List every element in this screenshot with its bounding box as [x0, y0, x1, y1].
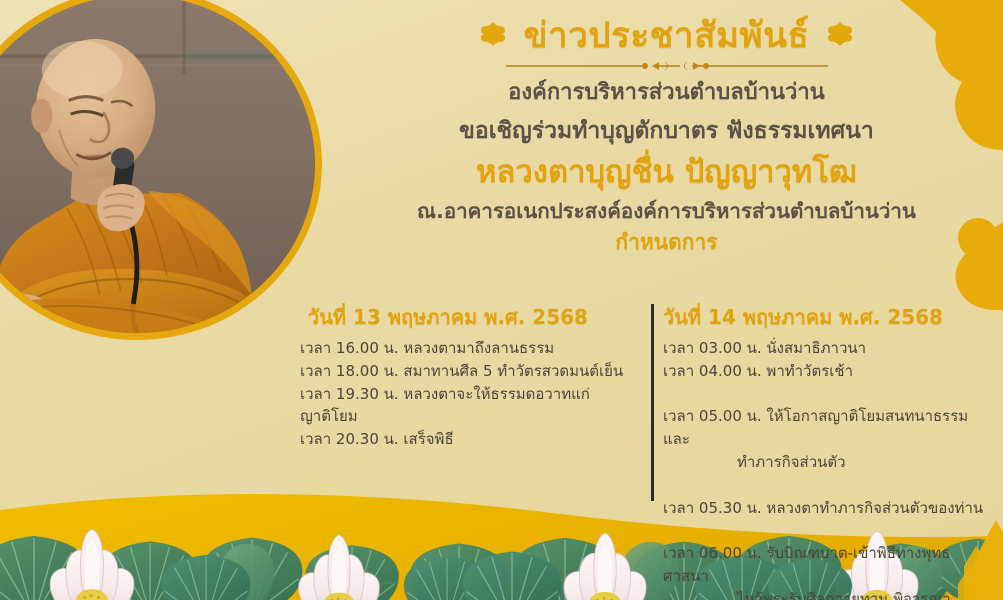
- list-item: เวลา 20.30 น. เสร็จพิธี: [300, 428, 640, 451]
- list-item: เวลา 05.30 น. หลวงตาทำภารกิจส่วนตัวของท่…: [663, 497, 993, 520]
- list-item: เวลา 19.30 น. หลวงตาจะให้ธรรมดอวาทแก่ญาต…: [300, 383, 640, 429]
- monk-photo: [0, 0, 315, 333]
- list-item: เวลา 03.00 น. นั่งสมาธิภาวนา: [663, 337, 993, 360]
- column-divider: [651, 304, 654, 501]
- venue-line: ณ.อาคารอเนกประสงค์องค์การบริหารส่วนตำบลบ…: [330, 199, 1003, 224]
- list-item: เวลา 05.00 น. ให้โอกาสญาติโยมสนทนาธรรมแล…: [663, 383, 993, 497]
- day1-items: เวลา 16.00 น. หลวงตามาถึงลานธรรม เวลา 18…: [300, 337, 640, 451]
- list-item: เวลา 18.00 น. สมาทานศีล 5 ทำวัตรสวดมนต์เ…: [300, 360, 640, 383]
- agenda-heading: กำหนดการ: [330, 230, 1003, 255]
- poster-header: ข่าวประชาสัมพันธ์ องค์การบริหารส่วนตำบลบ…: [330, 16, 1003, 255]
- day2-date: วันที่ 14 พฤษภาคม พ.ศ. 2568: [663, 305, 993, 330]
- page-title: ข่าวประชาสัมพันธ์: [524, 16, 810, 56]
- ornamental-divider: [502, 58, 832, 72]
- organization-name: องค์การบริหารส่วนตำบลบ้านว่าน: [330, 80, 1003, 106]
- schedule-column-day2: วันที่ 14 พฤษภาคม พ.ศ. 2568 เวลา 03.00 น…: [663, 305, 993, 600]
- quatrefoil-flower-icon-left: [480, 21, 506, 51]
- invitation-line: ขอเชิญร่วมทำบุญตักบาตร ฟังธรรมเทศนา: [330, 118, 1003, 146]
- list-item: เวลา 16.00 น. หลวงตามาถึงลานธรรม: [300, 337, 640, 360]
- list-item: เวลา 06.00 น. รับบิณฑบาต-เข้าพิธีทางพุทธ…: [663, 519, 993, 600]
- monk-name: หลวงตาบุญชื่น ปัญญาวุทโฒ: [330, 154, 1003, 191]
- schedule: วันที่ 13 พฤษภาคม พ.ศ. 2568 เวลา 16.00 น…: [0, 305, 1003, 520]
- title-row: ข่าวประชาสัมพันธ์: [330, 16, 1003, 56]
- monk-portrait-frame: [0, 0, 322, 340]
- day1-date: วันที่ 13 พฤษภาคม พ.ศ. 2568: [300, 305, 640, 330]
- schedule-column-day1: วันที่ 13 พฤษภาคม พ.ศ. 2568 เวลา 16.00 น…: [300, 305, 640, 451]
- quatrefoil-flower-icon-right: [827, 21, 853, 51]
- day2-items: เวลา 03.00 น. นั่งสมาธิภาวนา เวลา 04.00 …: [663, 337, 993, 600]
- announcement-poster: ข่าวประชาสัมพันธ์ องค์การบริหารส่วนตำบลบ…: [0, 0, 1003, 600]
- list-item: เวลา 04.00 น. พาทำวัตรเช้า: [663, 360, 993, 383]
